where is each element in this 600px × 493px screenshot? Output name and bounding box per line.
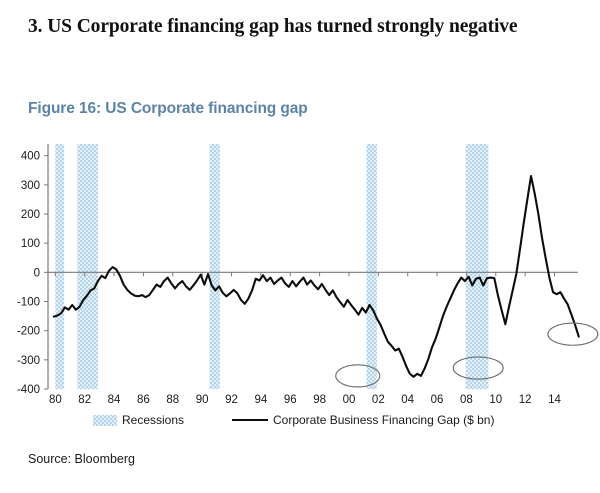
x-tick-label: 08 [460, 394, 473, 406]
y-tick-label: -300 [17, 355, 40, 367]
recession-band [209, 144, 219, 389]
figure-title: Figure 16: US Corporate financing gap [28, 100, 308, 118]
x-tick-label: 90 [196, 394, 209, 406]
x-tick-label: 02 [372, 394, 385, 406]
chart-legend: RecessionsCorporate Business Financing G… [93, 413, 494, 427]
recession-band [367, 144, 377, 389]
x-tick-label: 00 [343, 394, 356, 406]
x-tick-label: 92 [225, 394, 238, 406]
x-tick-label: 84 [108, 394, 121, 406]
y-tick-label: -100 [17, 297, 40, 309]
x-tick-label: 04 [401, 394, 414, 406]
x-tick-label: 98 [313, 394, 326, 406]
legend-label-recessions: Recessions [122, 413, 184, 427]
figure-page: 3. US Corporate financing gap has turned… [0, 0, 600, 493]
x-tick-label: 12 [519, 394, 532, 406]
recession-band [77, 144, 98, 389]
y-tick-label: 200 [21, 209, 40, 221]
x-tick-label: 96 [284, 394, 297, 406]
legend-swatch-recessions [93, 415, 117, 426]
y-tick-label: -400 [17, 384, 40, 396]
x-axis-tick-labels: 808284868890929496980002040608101214 [49, 394, 562, 406]
series-layer [54, 176, 579, 377]
x-tick-label: 82 [78, 394, 91, 406]
chart-container: 808284868890929496980002040608101214 400… [0, 132, 600, 432]
x-tick-label: 06 [431, 394, 444, 406]
recession-band [55, 144, 64, 389]
annotation-ellipse [548, 323, 598, 345]
page-headline: 3. US Corporate financing gap has turned… [28, 14, 568, 40]
recession-band [466, 144, 489, 389]
x-tick-label: 94 [254, 394, 267, 406]
series-line-corporate-financing-gap [54, 176, 579, 377]
x-tick-label: 10 [489, 394, 502, 406]
y-tick-label: 100 [21, 238, 40, 250]
legend-label-series: Corporate Business Financing Gap ($ bn) [273, 413, 494, 427]
y-tick-label: 400 [21, 151, 40, 163]
x-tick-label: 86 [137, 394, 150, 406]
recession-bands [55, 144, 488, 389]
chart-axes [44, 144, 578, 389]
source-note: Source: Bloomberg [28, 452, 135, 466]
x-tick-label: 14 [548, 394, 561, 406]
y-tick-label: 0 [34, 267, 40, 279]
x-tick-label: 88 [166, 394, 179, 406]
y-tick-label: -200 [17, 326, 40, 338]
y-tick-label: 300 [21, 180, 40, 192]
financing-gap-line-chart: 808284868890929496980002040608101214 400… [0, 132, 600, 432]
y-axis-tick-labels: 4003002001000-100-200-300-400 [17, 151, 40, 396]
x-tick-label: 80 [49, 394, 62, 406]
